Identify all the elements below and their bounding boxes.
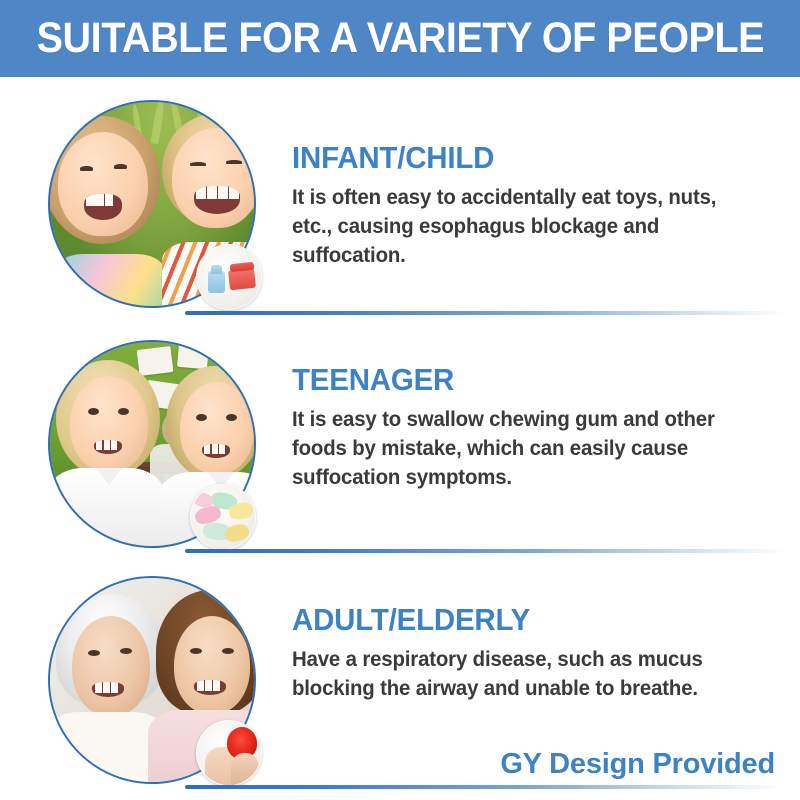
teen-eye (88, 408, 99, 415)
infographic-page: SUITABLE FOR A VARIETY OF PEOPLE (0, 0, 800, 800)
teen-eye (118, 408, 129, 415)
tooth (95, 194, 103, 206)
teen-mouth (94, 440, 122, 454)
teen-face (180, 382, 254, 474)
child-mouth (194, 186, 240, 214)
elderly-woman-eye (88, 650, 100, 656)
wall-paper (177, 343, 209, 370)
section-body-adult-elderly: Have a respiratory disease, such as mucu… (292, 645, 748, 703)
section-divider (185, 311, 785, 315)
tooth (213, 680, 220, 691)
elderly-woman-eye (120, 648, 132, 654)
tooth (111, 440, 117, 450)
tooth (105, 194, 113, 206)
section-teenager: TEENAGER It is easy to swallow chewing g… (0, 332, 800, 557)
child-eye (80, 166, 93, 171)
text-column-teenager: TEENAGER It is easy to swallow chewing g… (292, 362, 762, 492)
wall-paper (137, 346, 174, 376)
tooth (104, 440, 110, 450)
text-column-adult-elderly: ADULT/ELDERLY Have a respiratory disease… (292, 602, 762, 703)
section-body-teenager: It is easy to swallow chewing gum and ot… (292, 405, 748, 492)
adult-woman-eye (190, 648, 202, 654)
page-title: SUITABLE FOR A VARIETY OF PEOPLE (36, 14, 763, 63)
elderly-woman-mouth (92, 682, 124, 697)
tooth (212, 444, 218, 454)
adult-woman-eye (222, 648, 234, 654)
text-column-infant-child: INFANT/CHILD It is often easy to acciden… (292, 140, 762, 270)
tooth (197, 680, 204, 691)
footer-divider (185, 785, 785, 789)
elderly-woman-face (72, 616, 150, 716)
section-body-infant-child: It is often easy to accidentally eat toy… (292, 183, 748, 270)
section-divider (185, 549, 785, 553)
tooth (96, 440, 102, 450)
section-title-adult-elderly: ADULT/ELDERLY (292, 602, 739, 638)
teen-eye (226, 414, 237, 421)
tooth (103, 682, 110, 693)
inset-toy-blocks (196, 244, 262, 310)
tooth (196, 186, 206, 199)
toy-block-blue-icon (208, 271, 225, 293)
header-banner: SUITABLE FOR A VARIETY OF PEOPLE (0, 0, 800, 77)
toy-block-blue-stud-icon (211, 265, 222, 274)
tooth (229, 186, 239, 199)
section-title-teenager: TEENAGER (292, 362, 739, 398)
polo-collar (96, 468, 122, 485)
tooth (218, 186, 228, 199)
section-title-infant-child: INFANT/CHILD (292, 140, 739, 176)
teen-mouth (202, 444, 230, 458)
child-face (58, 132, 148, 236)
adult-woman-mouth (194, 680, 226, 695)
tooth (111, 682, 118, 693)
child-mouth (84, 194, 122, 220)
tooth (205, 680, 212, 691)
child-eye (114, 164, 127, 169)
teen-eye (196, 414, 207, 421)
inset-throat-pain (196, 720, 262, 786)
tooth (204, 444, 210, 454)
adult-woman-face (174, 616, 250, 714)
child-eye (190, 162, 206, 166)
section-infant-child: INFANT/CHILD It is often easy to acciden… (0, 92, 800, 317)
tooth (219, 444, 225, 454)
footer-credit: GY Design Provided (500, 748, 775, 781)
inset-chewing-gum (190, 484, 256, 550)
tooth (86, 194, 94, 206)
child-clothing (56, 254, 164, 308)
tooth (207, 186, 217, 199)
child-eye (226, 160, 242, 164)
tooth (95, 682, 102, 693)
teen-face (70, 376, 148, 472)
hand-icon (231, 753, 259, 786)
